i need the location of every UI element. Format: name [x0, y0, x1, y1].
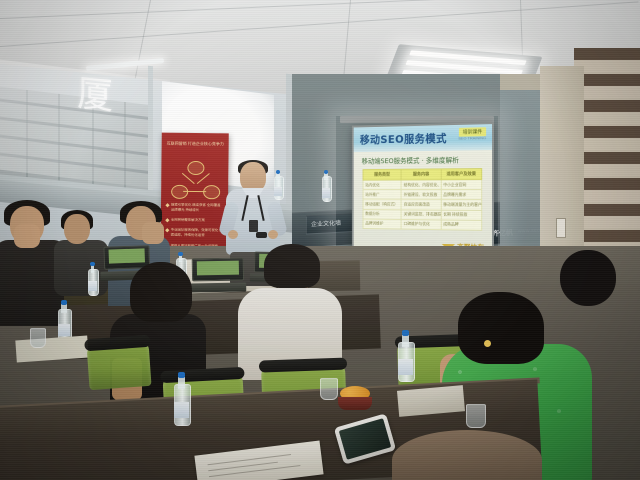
slide-table: 服务类型 服务内容 适用客户及效果 站内优化 结构优化、内容优化、标签优化 中小…	[363, 168, 483, 231]
bottle-cap	[90, 262, 95, 266]
chair[interactable]	[86, 340, 151, 390]
water-bottle[interactable]	[58, 300, 70, 342]
banner-connector-line	[183, 191, 206, 192]
bottle-cap	[402, 330, 410, 336]
banner-node-circle	[187, 161, 204, 175]
bottle-cap	[324, 170, 328, 174]
presenter-remote[interactable]	[256, 232, 267, 238]
banner-bullet-text: 专业团队服务保障，效果可视化 数据追踪，持续优化运营	[171, 228, 224, 239]
banner-title: 互联网营销 打造企业核心竞争力	[167, 141, 225, 147]
attendee-hair	[130, 262, 192, 322]
slide-table-header-cell: 服务内容	[401, 169, 441, 180]
attendee-shoulder	[392, 430, 542, 480]
drinking-glass[interactable]	[320, 378, 338, 400]
slide-table-header-cell: 适用客户及效果	[441, 169, 482, 180]
slide-title: 移动SEO服务模式	[360, 130, 447, 147]
slide-table-cell: 站内优化	[363, 180, 401, 190]
slide-table-row: 品牌词维护 口碑维护与优化 成熟品牌	[363, 219, 482, 230]
banner-bullet-text: 全网营销整体解决方案	[171, 218, 205, 223]
presenter-hand-right	[268, 230, 278, 239]
attendee-head	[64, 214, 90, 244]
bottle-cap	[61, 300, 67, 305]
ceiling-seam	[0, 0, 639, 19]
light-switch[interactable]	[556, 218, 566, 238]
bottle-cap	[178, 252, 183, 256]
slide-table-cell: 移动适配（响应式）	[363, 199, 401, 209]
water-bottle[interactable]	[398, 330, 413, 382]
slide-table-header-cell: 服务类型	[363, 169, 401, 180]
wall-sign-left-text: 企业文化墙	[311, 218, 341, 229]
attendee-hand	[14, 224, 40, 248]
drinking-glass[interactable]	[466, 404, 486, 428]
slide-subtitle: 移动端SEO服务模式 · 多维度解析	[362, 155, 459, 166]
slide-table-cell: 口碑维护与优化	[401, 219, 441, 229]
banner-node-circle	[203, 185, 220, 199]
presenter-head	[240, 162, 266, 192]
banner-connector-line	[197, 173, 210, 184]
banner-bullet: 全网营销整体解决方案	[166, 218, 224, 224]
water-bottle[interactable]	[322, 170, 330, 202]
attendee-hand	[142, 222, 164, 244]
attendee-body	[54, 240, 108, 296]
earring-icon	[484, 340, 491, 347]
bottle-cap	[276, 170, 280, 174]
basket-bowl	[338, 397, 372, 410]
banner-bullet: 专业团队服务保障，效果可视化 数据追踪，持续优化运营	[166, 228, 224, 239]
slide-table-cell: 自适应页面改造	[401, 200, 441, 210]
slide-table-cell: 品牌词维护	[363, 219, 401, 229]
attendee-hair	[458, 292, 544, 364]
slide-table-cell: 长期 持续投放	[441, 210, 482, 220]
presenter-hand-left	[228, 230, 238, 239]
drinking-glass[interactable]	[30, 328, 46, 348]
meeting-room-photo: 厦 企业文化墙 齐亿帆 www.seo.com.cn	[0, 0, 640, 480]
slide-table-row: 站外推广 外链建设、软文投放 品牌曝光需求	[363, 190, 482, 200]
slide-table-cell: 结构优化、内容优化、标签优化	[401, 180, 441, 190]
fruit-basket	[338, 386, 372, 410]
slide-table-cell: 中小企业官网	[441, 180, 482, 190]
badge-icon	[249, 220, 258, 232]
slide-table-cell: 关键词监控、排名跟踪	[401, 209, 441, 219]
slide-table-cell: 外链建设、软文投放	[401, 190, 441, 200]
presentation-slide: 移动SEO服务模式 培训课件 SEO TRAINING 移动端SEO服务模式 ·…	[354, 124, 492, 258]
slide-table-row: 站内优化 结构优化、内容优化、标签优化 中小企业官网	[363, 180, 482, 190]
bottle-cap	[178, 372, 186, 378]
slide-table-header-row: 服务类型 服务内容 适用客户及效果	[363, 169, 482, 180]
slide-table-cell: 成熟品牌	[441, 220, 482, 231]
projection-screen: 移动SEO服务模式 培训课件 SEO TRAINING 移动端SEO服务模式 ·…	[352, 122, 494, 260]
slide-table-cell: 数据分析	[363, 209, 401, 219]
water-bottle[interactable]	[88, 262, 97, 296]
ceiling-seam	[0, 1, 638, 47]
slide-tag-subtext: SEO TRAINING	[458, 135, 486, 141]
slide-table-cell: 站外推广	[363, 190, 401, 200]
window-decal-character: 厦	[72, 72, 118, 121]
banner-bullet: 搜索引擎优化 精准获客 全网覆盖 品牌曝光 持续增长	[166, 203, 224, 214]
attendee-hair	[264, 244, 320, 288]
banner-bullet-text: 搜索引擎优化 精准获客 全网覆盖 品牌曝光 持续增长	[171, 203, 224, 214]
slide-table-cell: 移动端流量为主的客户	[441, 200, 482, 210]
attendee-foreground-right	[392, 430, 542, 480]
water-bottle[interactable]	[274, 170, 282, 200]
slide-table-cell: 品牌曝光需求	[441, 190, 482, 200]
water-bottle[interactable]	[174, 372, 189, 426]
